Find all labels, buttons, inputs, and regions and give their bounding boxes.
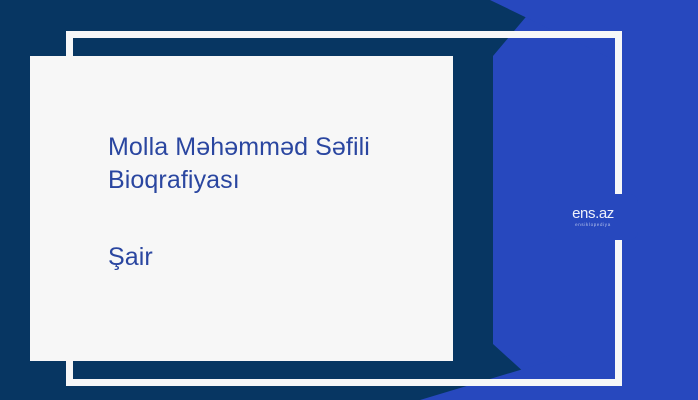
page-title: Molla Məhəmməd Səfili Bioqrafiyası xyxy=(108,131,437,197)
logo-tagline: ensiklopediya xyxy=(575,223,611,227)
presentation-slide: Molla Məhəmməd Səfili Bioqrafiyası Şair … xyxy=(0,0,698,400)
page-subtitle: Şair xyxy=(108,241,437,274)
content-card: Molla Məhəmməd Səfili Bioqrafiyası Şair xyxy=(30,56,453,361)
ens-az-logo-badge[interactable]: ens.az ensiklopediya xyxy=(548,194,638,240)
logo-wordmark: ens.az xyxy=(572,206,614,221)
card-text-block: Molla Məhəmməd Səfili Bioqrafiyası Şair xyxy=(108,131,437,274)
